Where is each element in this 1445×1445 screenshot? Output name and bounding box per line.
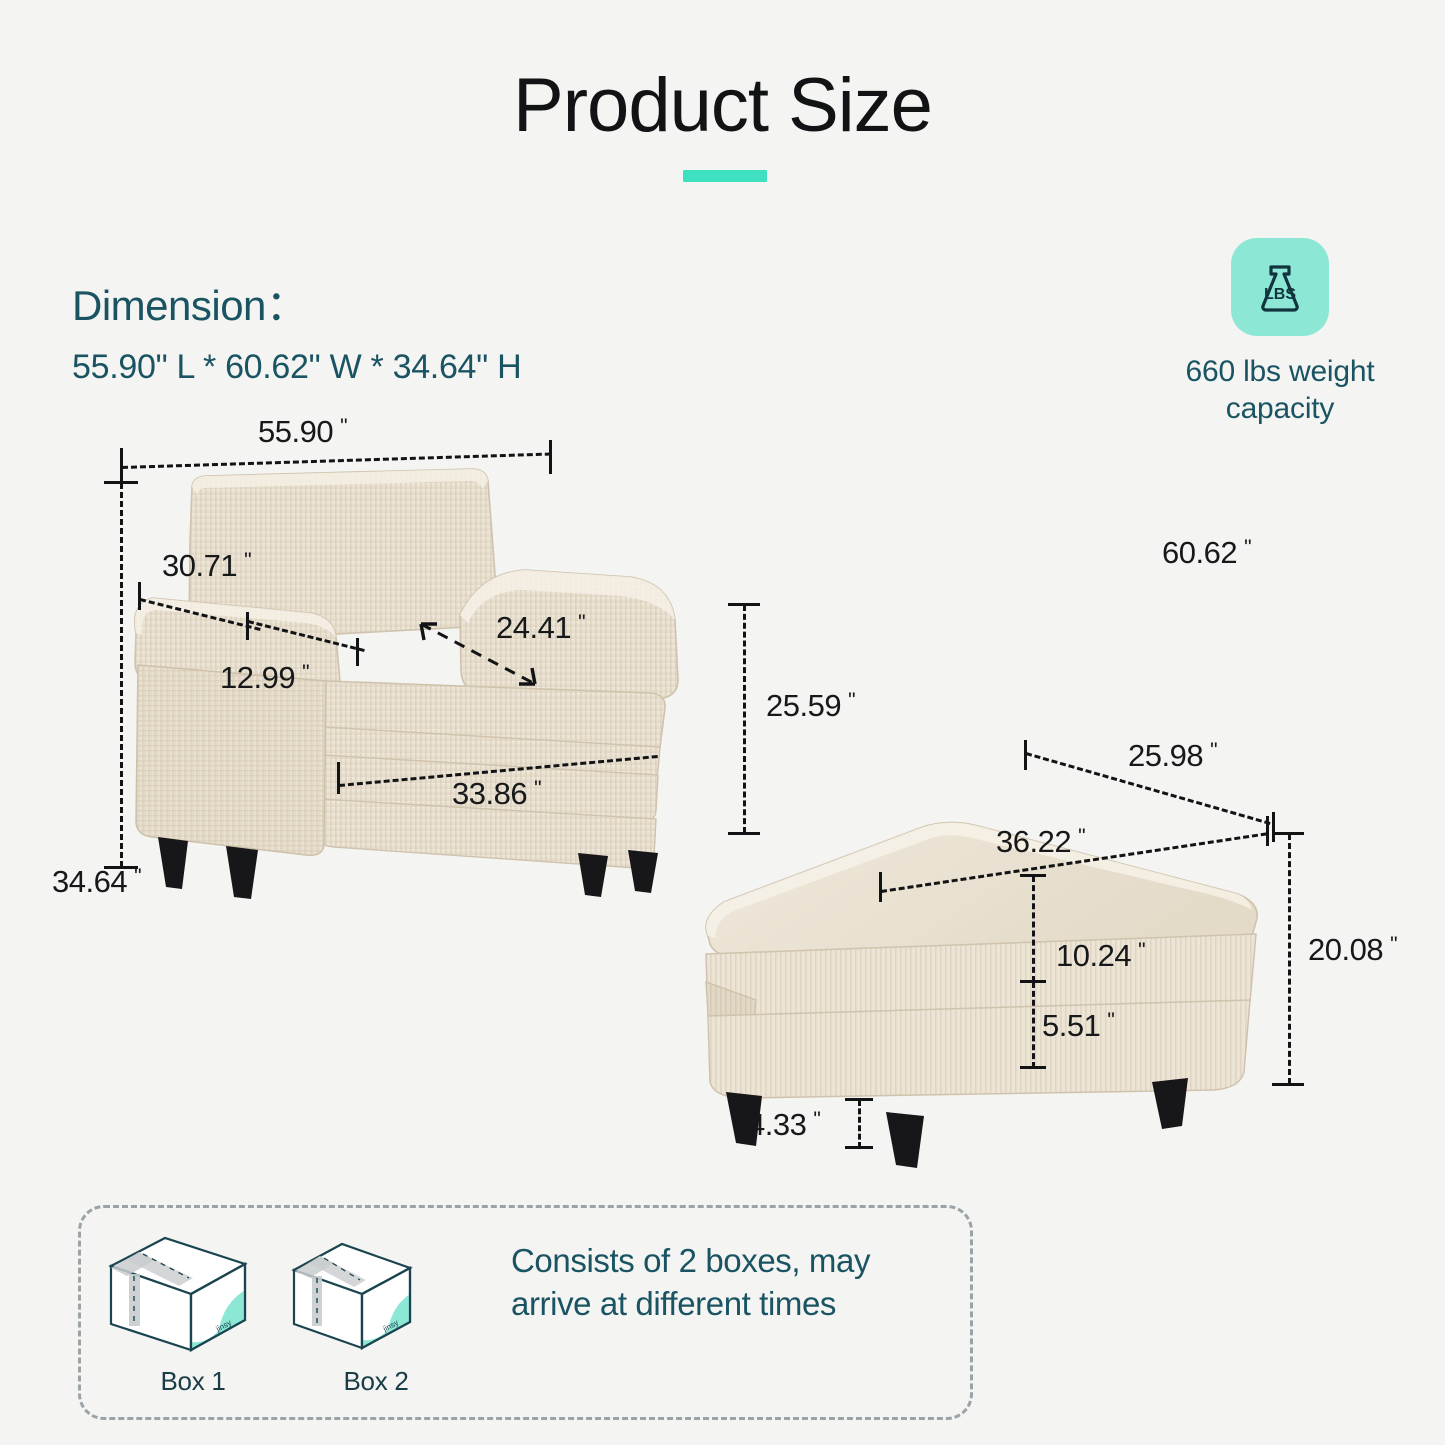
svg-text:LBS: LBS [1264, 286, 1296, 303]
ottoman-width-label: 36.22" [996, 824, 1085, 860]
packaging-caption: Consists of 2 boxes, may arrive at diffe… [511, 1240, 951, 1326]
box-2-label: Box 2 [286, 1366, 466, 1397]
box-1-label: Box 1 [103, 1366, 283, 1397]
ottoman-total-height-label: 20.08" [1308, 932, 1397, 968]
ottoman-total-line [1288, 834, 1291, 1084]
chair-seat-width-label: 33.86" [452, 776, 541, 812]
ottoman-width-cap-right [1266, 816, 1269, 846]
box-icon: jinsy [103, 1230, 253, 1360]
chair-width-label: 55.90" [258, 414, 347, 450]
chair-arm-width-label: 12.99" [220, 660, 309, 696]
ottoman-width-cap-left [879, 872, 882, 902]
ottoman-cushion-line [1032, 876, 1035, 982]
ottoman-depth-label: 25.98" [1128, 738, 1217, 774]
chair-arm-cap-right [356, 638, 359, 666]
ottoman-depth-cap-right [1272, 812, 1275, 842]
chair-back-cap-right [246, 612, 249, 640]
ottoman-cushion-height-label: 10.24" [1056, 938, 1145, 974]
chair-height-line [120, 483, 123, 867]
ottoman-total-cap-bottom [1272, 1083, 1304, 1086]
dimension-summary: 55.90" L * 60.62" W * 34.64" H [72, 348, 521, 387]
chair-back-cap-left [138, 582, 141, 610]
weight-capacity-badge: LBS 660 lbs weight capacity [1130, 238, 1430, 427]
ottoman-leg-cap-bottom [845, 1146, 873, 1149]
package-box-1: jinsy Box 1 [103, 1230, 283, 1397]
chair-side-height-label: 25.59" [766, 688, 855, 724]
chair-width-cap-right [549, 440, 552, 474]
ottoman-base-cap-bottom [1020, 1066, 1046, 1069]
chair-total-height-label: 34.64" [52, 864, 141, 900]
package-box-2: jinsy Box 2 [286, 1230, 466, 1397]
chair-depth-label: 60.62" [1162, 535, 1251, 571]
chair-seat-depth-label: 24.41" [496, 610, 585, 646]
packaging-panel: jinsy Box 1 jinsy Box 2 Consists of 2 bo… [78, 1205, 973, 1420]
product-size-infographic: Product Size Dimension： 55.90" L * 60.62… [0, 0, 1445, 1445]
chair-side-line [743, 605, 746, 833]
ottoman-leg-height-label: 4.33" [748, 1107, 820, 1143]
lbs-weight-icon: LBS [1231, 238, 1329, 336]
ottoman-base-height-label: 5.51" [1042, 1008, 1114, 1044]
chair-back-height-label: 30.71" [162, 548, 251, 584]
ottoman-leg-line [858, 1100, 861, 1148]
page-title: Product Size [0, 62, 1445, 149]
dimension-heading: Dimension： [72, 272, 307, 333]
title-accent-rule [683, 170, 767, 182]
chair-seat-width-cap [337, 762, 340, 794]
weight-capacity-text: 660 lbs weight capacity [1130, 354, 1430, 427]
box-icon: jinsy [286, 1230, 418, 1360]
ottoman-base-line [1032, 982, 1035, 1068]
